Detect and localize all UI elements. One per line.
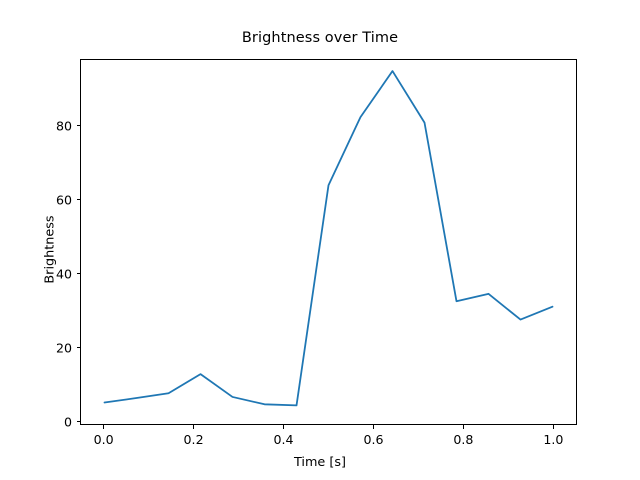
plot-axes-area (80, 59, 577, 425)
y-tick-mark (77, 273, 81, 274)
y-axis-label: Brightness (43, 190, 58, 310)
y-tick-mark (77, 421, 81, 422)
x-tick-label: 0.0 (94, 432, 114, 447)
x-tick-mark (193, 425, 194, 429)
x-tick-mark (373, 425, 374, 429)
y-tick-label: 20 (20, 340, 72, 355)
brightness-line (105, 71, 553, 405)
y-tick-label: 80 (20, 118, 72, 133)
x-tick-mark (553, 425, 554, 429)
x-tick-label: 0.4 (274, 432, 294, 447)
x-tick-mark (103, 425, 104, 429)
chart-figure: Brightness over Time 0.00.20.40.60.81.0 … (0, 0, 640, 480)
chart-title: Brightness over Time (0, 30, 640, 46)
x-tick-label: 0.6 (363, 432, 383, 447)
y-tick-mark (77, 347, 81, 348)
y-tick-mark (77, 125, 81, 126)
x-axis-label: Time [s] (0, 455, 640, 470)
x-tick-mark (283, 425, 284, 429)
x-tick-mark (463, 425, 464, 429)
line-series-svg (81, 60, 576, 424)
x-tick-label: 1.0 (543, 432, 563, 447)
x-tick-label: 0.2 (184, 432, 204, 447)
y-tick-mark (77, 199, 81, 200)
x-tick-label: 0.8 (453, 432, 473, 447)
y-tick-label: 0 (20, 414, 72, 429)
